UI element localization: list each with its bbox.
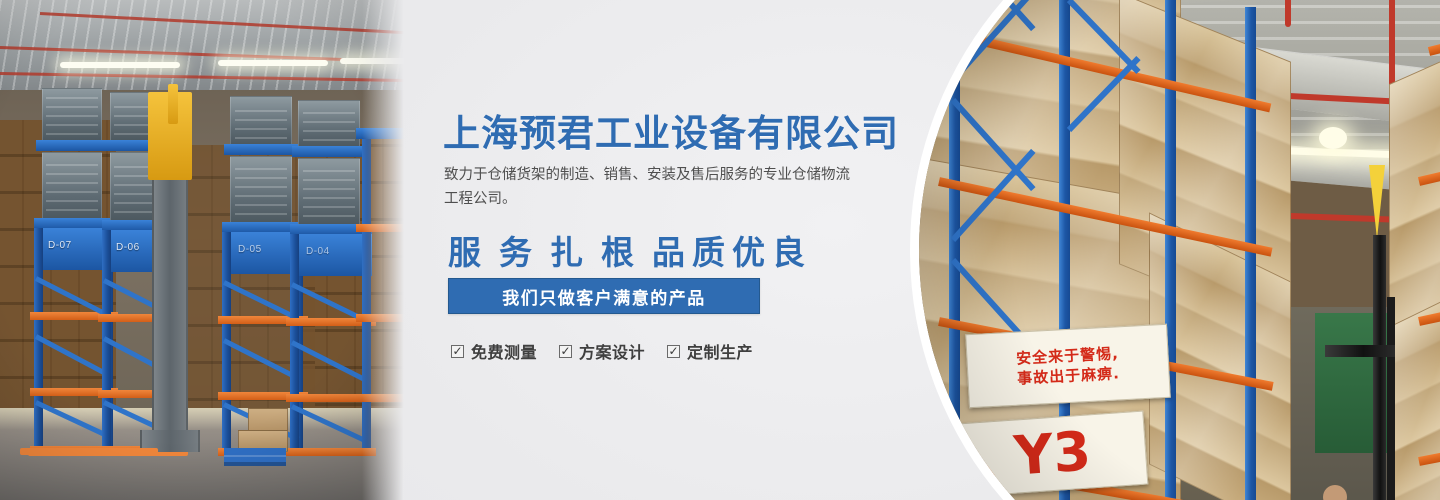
right-photo-vignette xyxy=(919,0,1440,500)
left-photo-fade xyxy=(362,0,404,500)
right-photo-scene: 安全来于警惕, 事故出于麻痹. Y3 Y3 xyxy=(919,0,1440,500)
cta-button[interactable]: 我们只做客户满意的产品 xyxy=(448,278,760,314)
checkbox-checked-icon: ✓ xyxy=(451,345,464,358)
feature-item-custom-production: ✓ 定制生产 xyxy=(667,339,753,363)
slogan-part-1: 服务扎根 xyxy=(448,233,652,272)
feature-label: 定制生产 xyxy=(687,339,753,363)
feature-item-free-measure: ✓ 免费测量 xyxy=(451,339,537,363)
feature-item-plan-design: ✓ 方案设计 xyxy=(559,339,645,363)
slogan-part-2: 品质优良 xyxy=(652,233,812,272)
feature-list: ✓ 免费测量 ✓ 方案设计 ✓ 定制生产 xyxy=(451,339,753,363)
right-warehouse-photo-circle: 安全来于警惕, 事故出于麻痹. Y3 Y3 xyxy=(910,0,1440,500)
feature-label: 方案设计 xyxy=(579,339,645,363)
left-warehouse-photo: D-07 D-06 xyxy=(0,0,404,500)
banner-content: 上海预君工业设备有限公司 致力于仓储货架的制造、销售、安装及售后服务的专业仓储物… xyxy=(443,0,963,500)
checkbox-checked-icon: ✓ xyxy=(667,345,680,358)
brand-slogan: 服务扎根品质优良 xyxy=(448,226,812,274)
left-photo-vignette xyxy=(0,0,404,500)
left-photo-scene: D-07 D-06 xyxy=(0,0,404,500)
company-description: 致力于仓储货架的制造、销售、安装及售后服务的专业仓储物流工程公司。 xyxy=(444,163,864,211)
hero-banner: D-07 D-06 xyxy=(0,0,1440,500)
feature-label: 免费测量 xyxy=(471,339,537,363)
page-title: 上海预君工业设备有限公司 xyxy=(443,103,899,157)
checkbox-checked-icon: ✓ xyxy=(559,345,572,358)
